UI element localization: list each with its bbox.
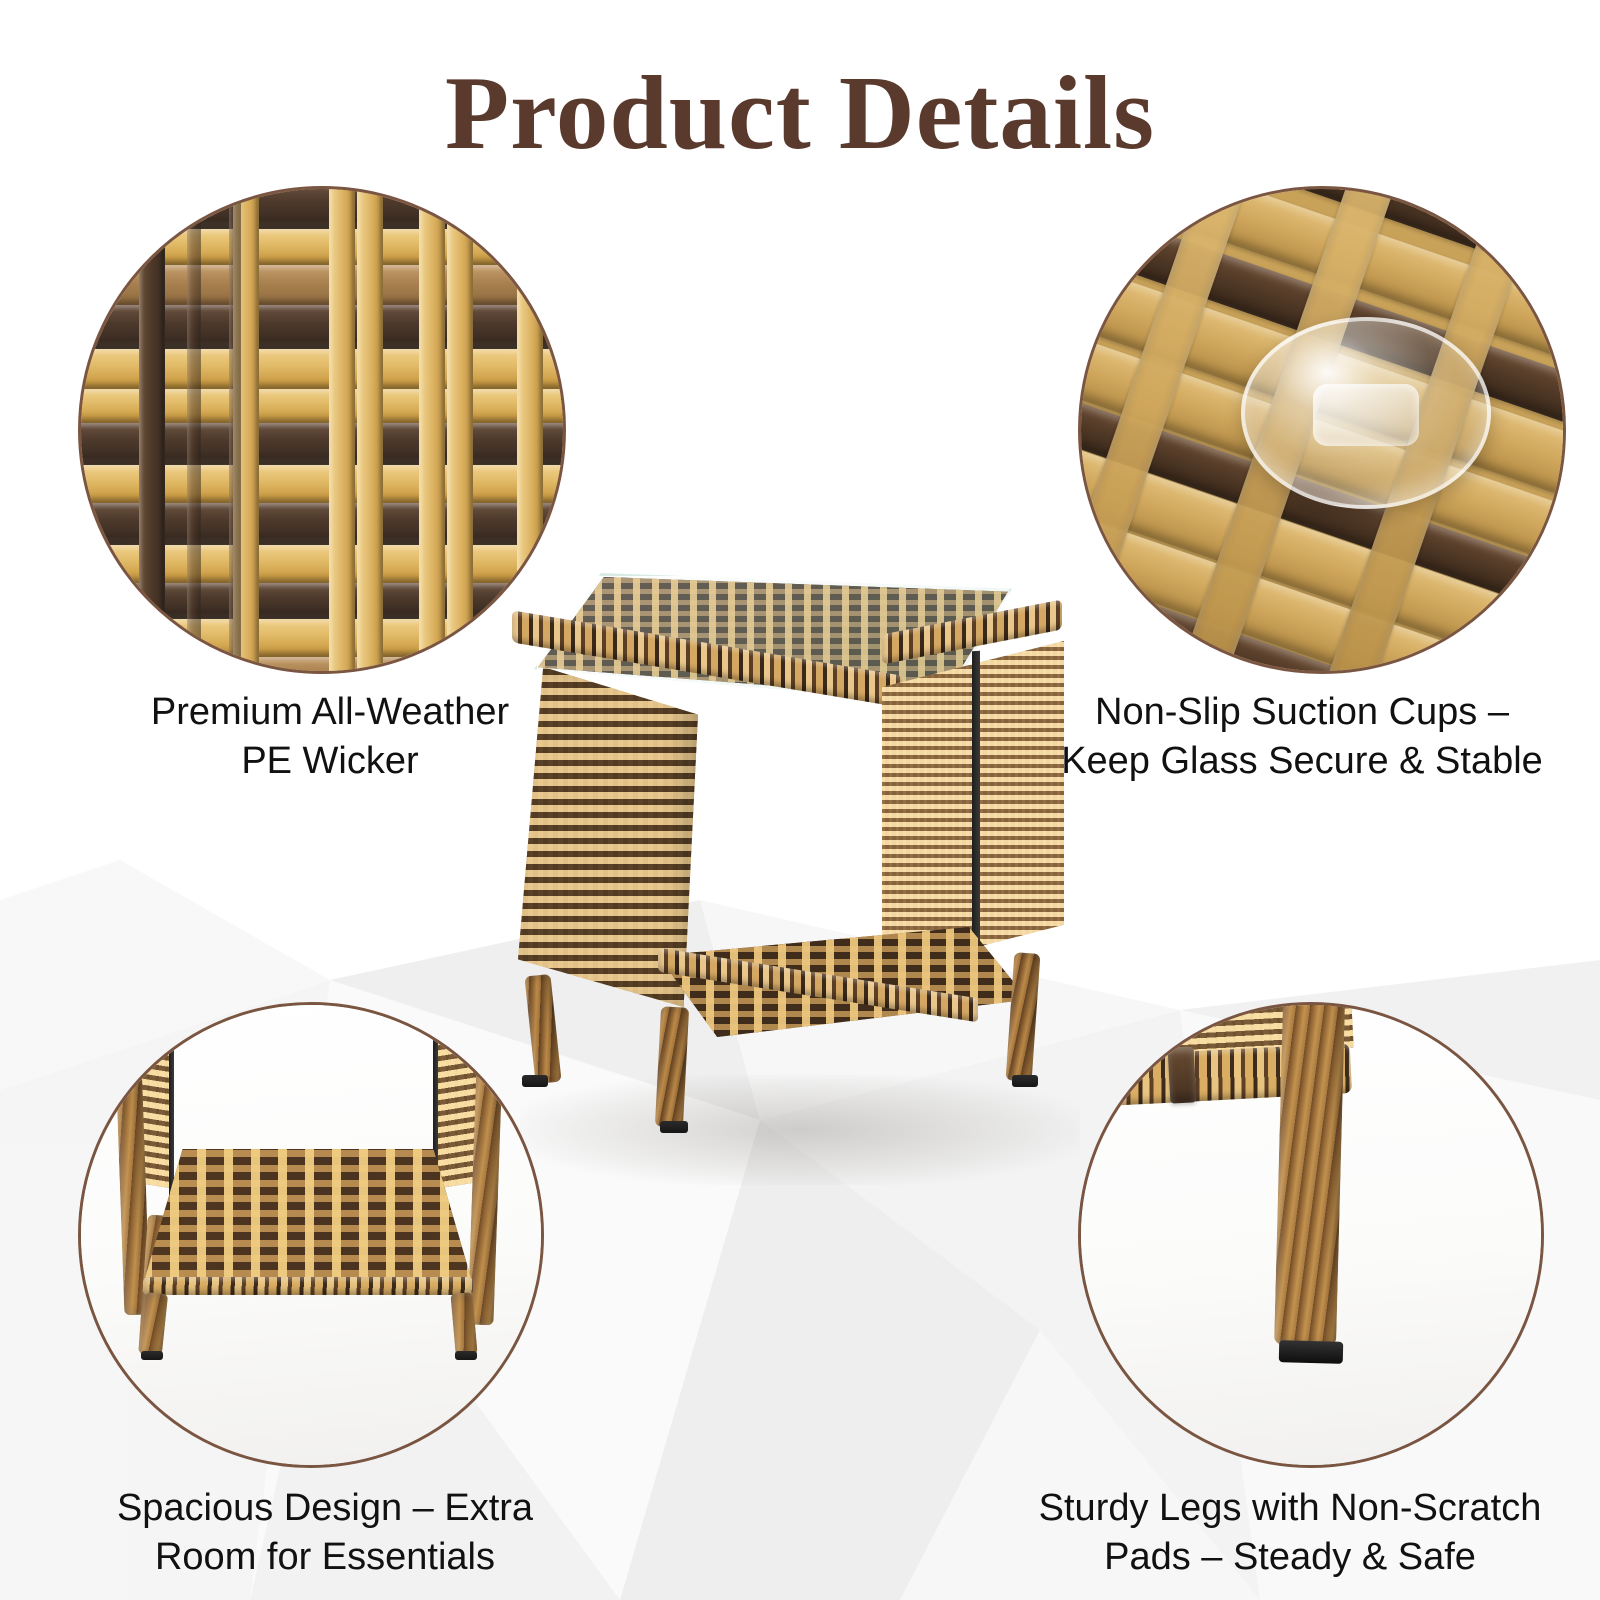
leg-pad-back-right [1012, 1075, 1038, 1087]
storage-shelf-surface [143, 1149, 473, 1285]
caption-line-2: Room for Essentials [40, 1533, 610, 1582]
suction-cup-on-wicker [1081, 189, 1563, 671]
callout-caption-premium-wicker: Premium All-Weather PE Wicker [50, 688, 610, 787]
non-scratch-pad [1279, 1340, 1344, 1364]
leg-back-right [1006, 952, 1041, 1082]
wicker-weave-texture [81, 189, 563, 671]
page-title: Product Details [0, 52, 1600, 173]
sturdy-leg [1274, 1002, 1346, 1346]
product-image-side-table [490, 555, 1110, 1175]
callout-caption-spacious-design: Spacious Design – Extra Room for Essenti… [40, 1484, 610, 1583]
callout-image-sturdy-legs [1078, 1002, 1544, 1468]
callout-image-premium-wicker [78, 186, 566, 674]
lower-shelf-view [81, 1005, 541, 1465]
leg-pad-front-center [660, 1121, 688, 1133]
callout-image-suction-cups [1078, 186, 1566, 674]
suction-cup-icon [1241, 317, 1491, 509]
caption-line-1: Non-Slip Suction Cups – [1022, 688, 1582, 737]
right-panel-center-post [972, 651, 980, 969]
product-shadow [520, 1075, 1080, 1185]
callout-caption-suction-cups: Non-Slip Suction Cups – Keep Glass Secur… [1022, 688, 1582, 787]
shelf-front-rail [143, 1277, 473, 1295]
caption-line-2: PE Wicker [50, 737, 610, 786]
callout-caption-sturdy-legs: Sturdy Legs with Non-Scratch Pads – Stea… [990, 1484, 1590, 1583]
callout-image-spacious-design [78, 1002, 544, 1468]
caption-line-1: Sturdy Legs with Non-Scratch [990, 1484, 1590, 1533]
caption-line-1: Spacious Design – Extra [40, 1484, 610, 1533]
caption-line-1: Premium All-Weather [50, 688, 610, 737]
caption-line-2: Pads – Steady & Safe [990, 1533, 1590, 1582]
caption-line-2: Keep Glass Secure & Stable [1022, 737, 1582, 786]
table-leg-closeup [1081, 1005, 1541, 1465]
